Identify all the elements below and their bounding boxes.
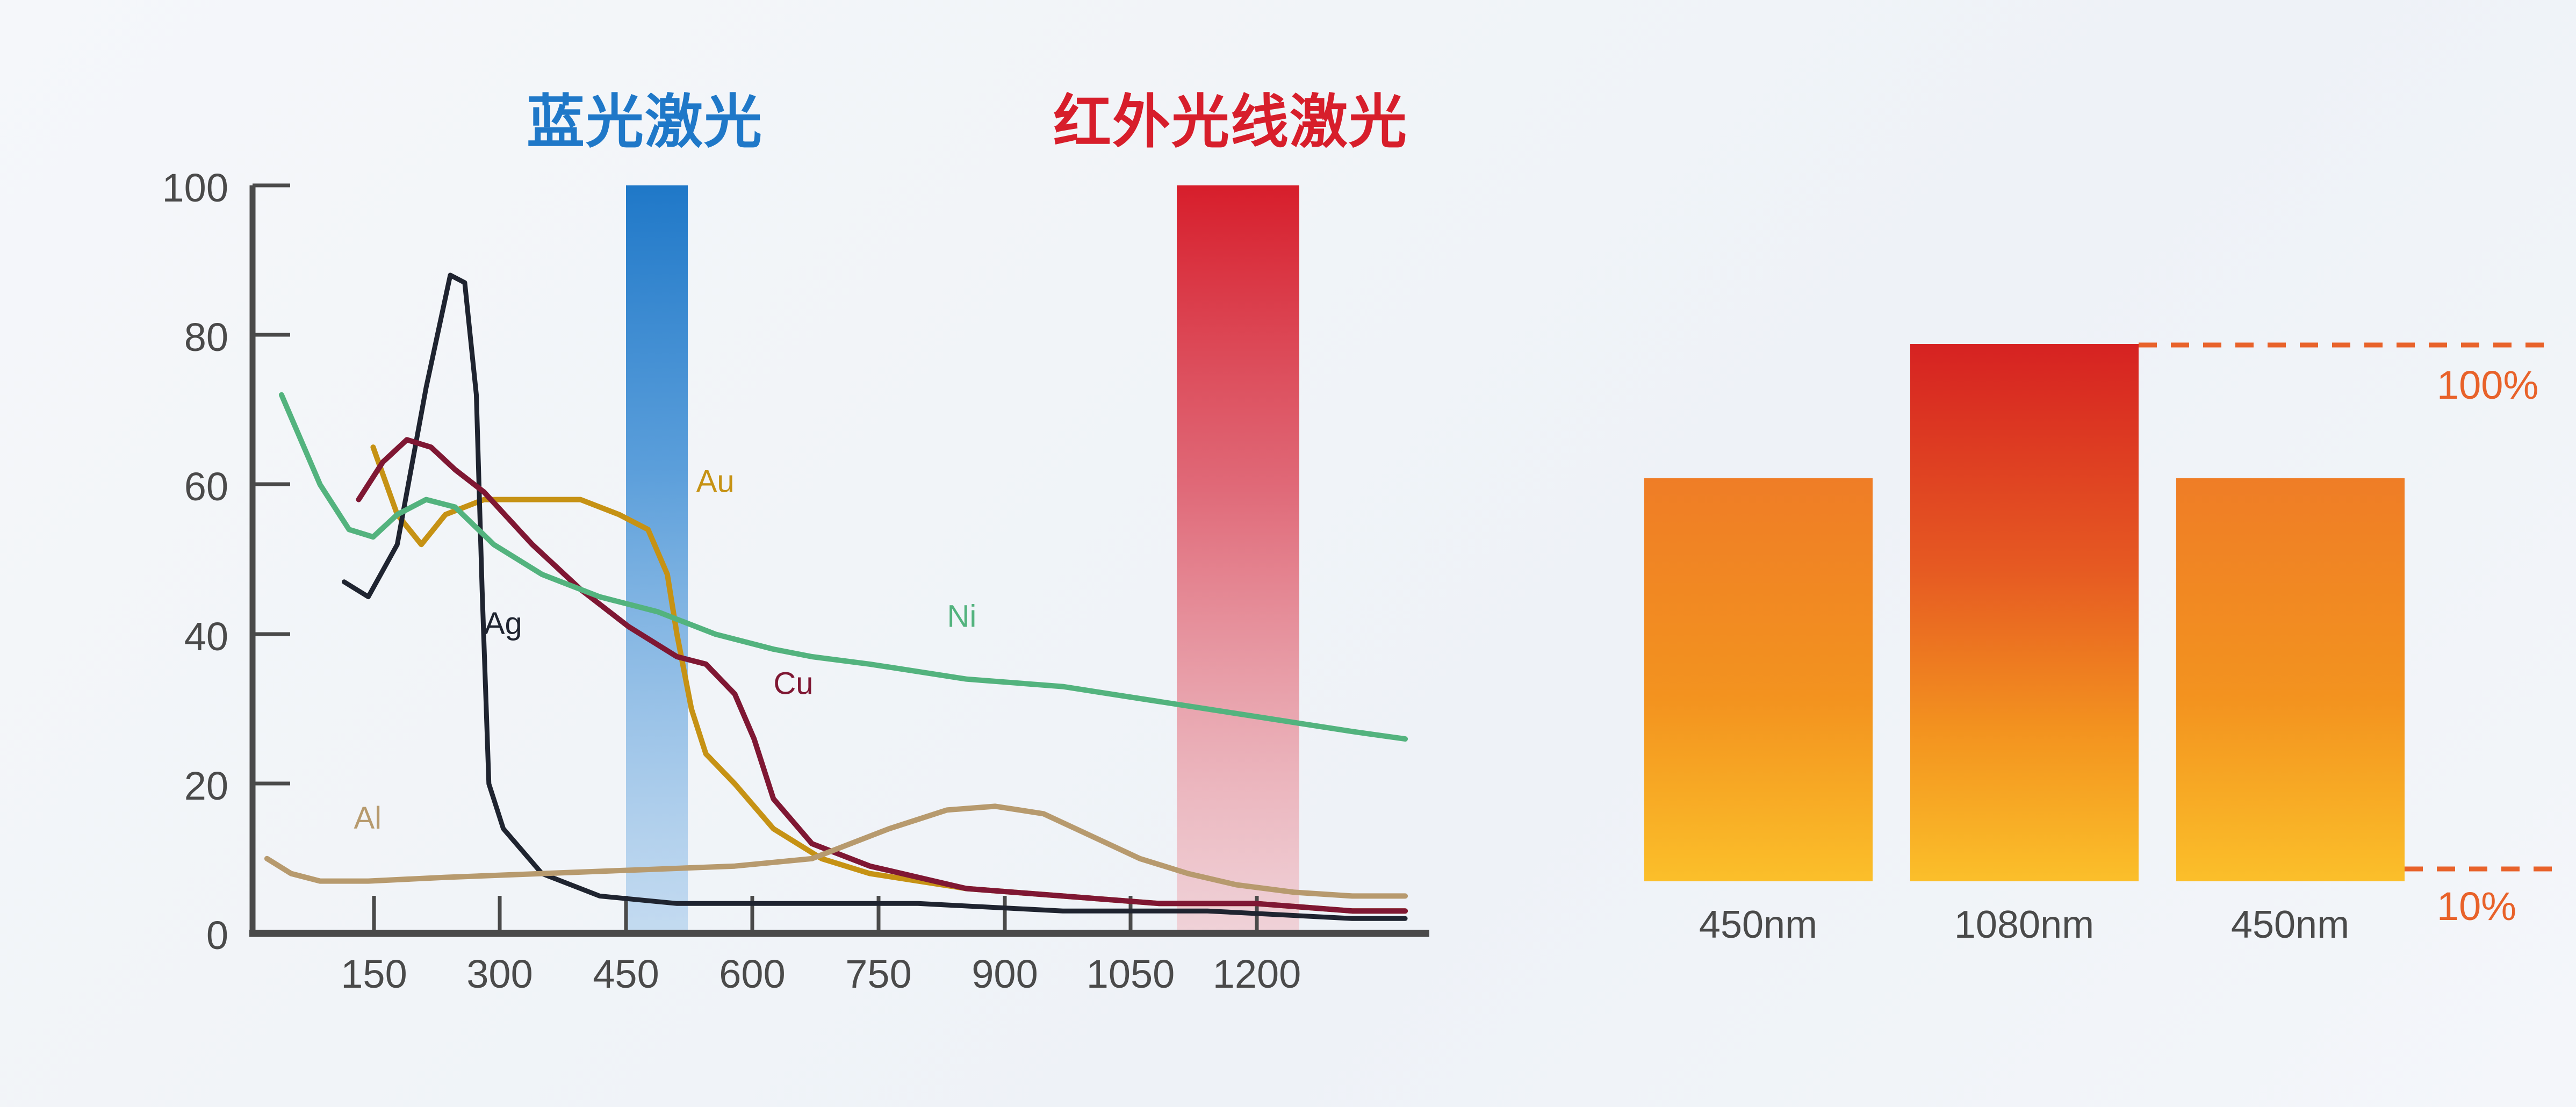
bar-label-450nm-left: 450nm	[1699, 903, 1817, 946]
x-tick-750: 750	[845, 952, 911, 996]
y-axis-labels: 100 80 60 40 20 0	[162, 166, 228, 958]
infrared-laser-band	[1177, 185, 1299, 933]
series-label-Cu: Cu	[773, 666, 813, 701]
x-tick-300: 300	[466, 952, 533, 996]
absorption-line-chart: 100 80 60 40 20 0 150 300 450 600 750 90…	[0, 0, 1558, 1107]
y-tick-100: 100	[162, 166, 228, 210]
chart-page: 蓝光激光 红外光线激光	[0, 0, 2576, 1107]
x-tick-600: 600	[719, 952, 785, 996]
y-tick-60: 60	[184, 464, 228, 509]
series-label-Ni: Ni	[947, 599, 976, 634]
series-label-Al: Al	[354, 801, 382, 836]
label-10-percent: 10%	[2437, 884, 2516, 929]
y-tick-40: 40	[184, 614, 228, 659]
blue-laser-band	[626, 185, 688, 933]
efficiency-bar-chart: 100% 10% 450nm 1080nm 450nm	[1548, 0, 2576, 1107]
bar-1080nm	[1910, 344, 2139, 881]
x-axis-labels: 150 300 450 600 750 900 1050 1200	[341, 952, 1301, 996]
y-axis-ticks	[253, 185, 290, 783]
x-tick-900: 900	[972, 952, 1038, 996]
x-tick-1050: 1050	[1086, 952, 1175, 996]
x-tick-150: 150	[341, 952, 407, 996]
y-tick-0: 0	[206, 913, 228, 958]
x-tick-1200: 1200	[1213, 952, 1301, 996]
x-tick-450: 450	[593, 952, 659, 996]
y-tick-80: 80	[184, 315, 228, 360]
y-tick-20: 20	[184, 764, 228, 808]
series-label-Ag: Ag	[484, 606, 522, 641]
label-100-percent: 100%	[2437, 363, 2538, 407]
bar-label-450nm-right: 450nm	[2231, 903, 2349, 946]
bar-450nm-right	[2176, 478, 2405, 881]
bar-label-1080nm: 1080nm	[1954, 903, 2094, 946]
series-label-Au: Au	[696, 464, 735, 499]
bar-450nm-left	[1644, 478, 1873, 881]
